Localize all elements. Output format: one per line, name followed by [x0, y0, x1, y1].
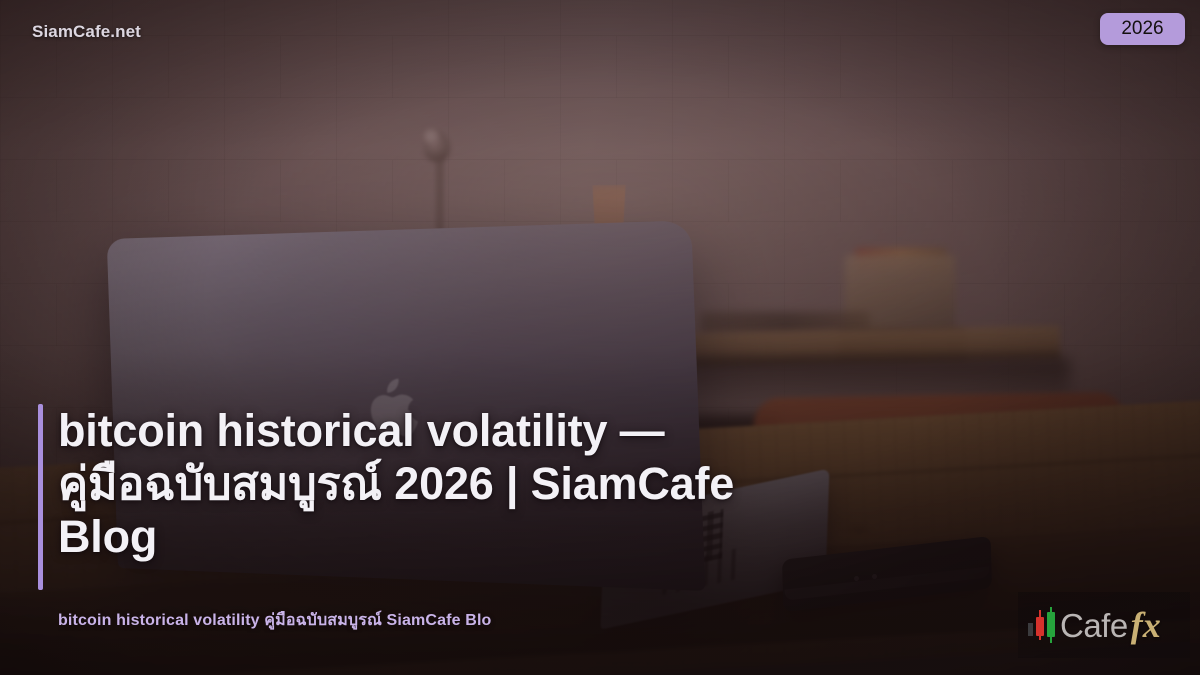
accent-bar — [38, 404, 43, 590]
candle-green — [1047, 607, 1055, 643]
logo-suffix: fx — [1131, 607, 1161, 643]
vignette-overlay — [0, 0, 1200, 675]
candle-red — [1036, 610, 1044, 640]
candlestick-icon — [1028, 607, 1055, 643]
candle-body — [1036, 617, 1044, 636]
site-name: SiamCafe.net — [32, 22, 141, 42]
candle-bar-gray — [1028, 623, 1033, 636]
cafefx-logo: Cafe fx — [1018, 592, 1190, 658]
page-title: bitcoin historical volatility — คู่มือฉบ… — [58, 404, 738, 563]
logo-wordmark: Cafe — [1060, 609, 1128, 642]
candle-body — [1047, 612, 1055, 637]
year-badge-label: 2026 — [1121, 18, 1163, 40]
hero-banner: SiamCafe.net 2026 bitcoin historical vol… — [0, 0, 1200, 675]
year-badge: 2026 — [1100, 13, 1185, 45]
title-block: bitcoin historical volatility — คู่มือฉบ… — [38, 404, 738, 563]
page-subtitle: bitcoin historical volatility คู่มือฉบับ… — [58, 608, 658, 633]
